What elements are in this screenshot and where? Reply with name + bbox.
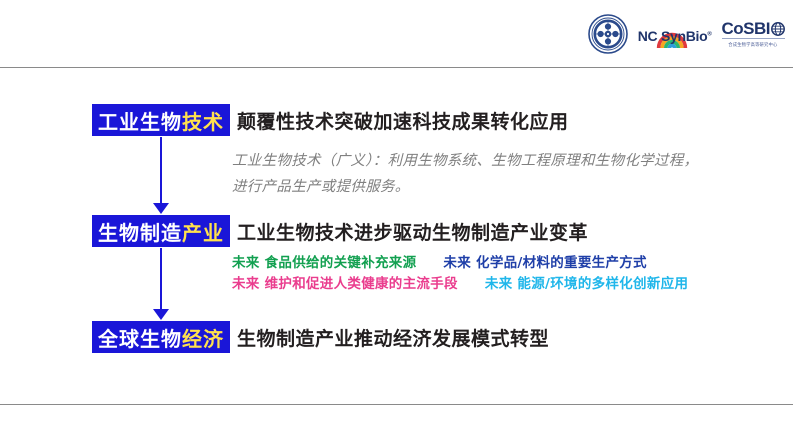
logo-strip: ●●●●● NC SynBio® [588, 14, 785, 54]
future-item-food-prefix: 未来 [232, 255, 260, 271]
future-item-chemicals-prefix: 未来 [443, 255, 471, 271]
future-item-health-text: 维护和促进人类健康的主流手段 [265, 276, 458, 292]
svg-text:●●●●●: ●●●●● [604, 20, 612, 23]
slide-canvas: ●●●●● NC SynBio® [0, 0, 793, 446]
flow-box-1-highlight: 技术 [182, 106, 224, 135]
footer-divider [0, 404, 793, 405]
future-item-food-text: 食品供给的关键补充来源 [265, 255, 417, 271]
arrow-1-shaft [160, 137, 162, 204]
flow-arrow-2 [153, 248, 169, 320]
nc-synbio-logo: NC SynBio® [638, 14, 712, 54]
flow-box-industrial-biotech[interactable]: 工业生物技术 [92, 104, 230, 136]
header-divider [0, 67, 793, 68]
flow-box-3-highlight: 经济 [182, 323, 224, 352]
future-item-chemicals: 未来 化学品/材料的重要生产方式 [443, 253, 646, 274]
description-paragraph: 工业生物技术（广义）：利用生物系统、生物工程原理和生物化学过程， 进行产品生产或… [232, 148, 762, 200]
future-item-energy: 未来 能源/环境的多样化创新应用 [485, 274, 688, 295]
cosbio-logo: CoSBI 合成生物学高等研究中心 [722, 14, 786, 54]
future-item-food: 未来 食品供给的关键补充来源 [232, 253, 416, 274]
future-row-2: 未来 维护和促进人类健康的主流手段 未来 能源/环境的多样化创新应用 [232, 274, 772, 295]
flow-box-1-prefix: 工业生物 [98, 106, 182, 135]
globe-icon [771, 22, 785, 36]
arrow-1-head [153, 203, 169, 214]
headline-industrial-biotech: 颠覆性技术突破加速科技成果转化应用 [237, 107, 569, 134]
future-item-chemicals-text: 化学品/材料的重要生产方式 [476, 255, 647, 271]
cosbio-subtitle: 合成生物学高等研究中心 [729, 42, 778, 48]
future-item-energy-text: 能源/环境的多样化创新应用 [517, 276, 688, 292]
future-application-list: 未来 食品供给的关键补充来源 未来 化学品/材料的重要生产方式 未来 维护和促进… [232, 253, 772, 295]
future-row-1: 未来 食品供给的关键补充来源 未来 化学品/材料的重要生产方式 [232, 253, 772, 274]
arrow-2-head [153, 309, 169, 320]
nc-synbio-label: NC SynBio® [638, 29, 712, 54]
nc-synbio-tm: ® [707, 31, 711, 37]
flow-arrow-1 [153, 137, 169, 214]
future-item-health: 未来 维护和促进人类健康的主流手段 [232, 274, 458, 295]
cosbio-wordmark: CoSBI [722, 20, 786, 37]
university-emblem-icon: ●●●●● [588, 14, 628, 54]
future-item-energy-prefix: 未来 [485, 276, 513, 292]
flow-box-biomanufacturing-industry[interactable]: 生物制造产业 [92, 215, 230, 247]
description-line-2: 进行产品生产或提供服务。 [232, 174, 762, 200]
arrow-2-shaft [160, 248, 162, 310]
headline-global-bioeconomy: 生物制造产业推动经济发展模式转型 [237, 324, 549, 351]
cosbio-divider [722, 38, 786, 39]
description-line-1: 工业生物技术（广义）：利用生物系统、生物工程原理和生物化学过程， [232, 148, 762, 174]
future-item-health-prefix: 未来 [232, 276, 260, 292]
flow-box-global-bioeconomy[interactable]: 全球生物经济 [92, 321, 230, 353]
flow-box-3-prefix: 全球生物 [98, 323, 182, 352]
cosbio-text: CoSBI [722, 20, 771, 37]
nc-synbio-text: NC SynBio [638, 28, 708, 44]
flow-box-2-highlight: 产业 [182, 217, 224, 246]
slide-header: ●●●●● NC SynBio® [0, 0, 793, 68]
headline-biomanufacturing-industry: 工业生物技术进步驱动生物制造产业变革 [237, 218, 588, 245]
flow-box-2-prefix: 生物制造 [98, 217, 182, 246]
